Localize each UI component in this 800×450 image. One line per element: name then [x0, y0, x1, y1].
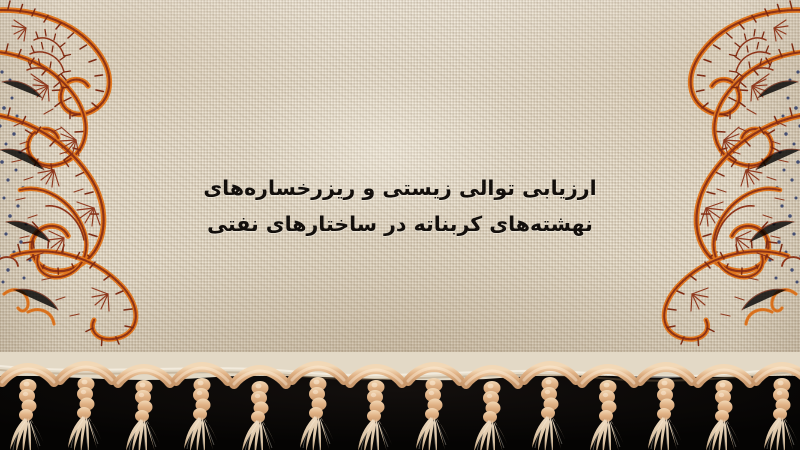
slide-canvas: ارزیابی توالی زیستی و ریزرخساره‌های نهشت… [0, 0, 800, 450]
slide-title: ارزیابی توالی زیستی و ریزرخساره‌های نهشت… [185, 170, 615, 242]
title-line-2: نهشته‌های کربناته در ساختارهای نفتی [185, 206, 615, 242]
tassel-fringe-trim [0, 352, 800, 450]
title-line-1: ارزیابی توالی زیستی و ریزرخساره‌های [185, 170, 615, 206]
